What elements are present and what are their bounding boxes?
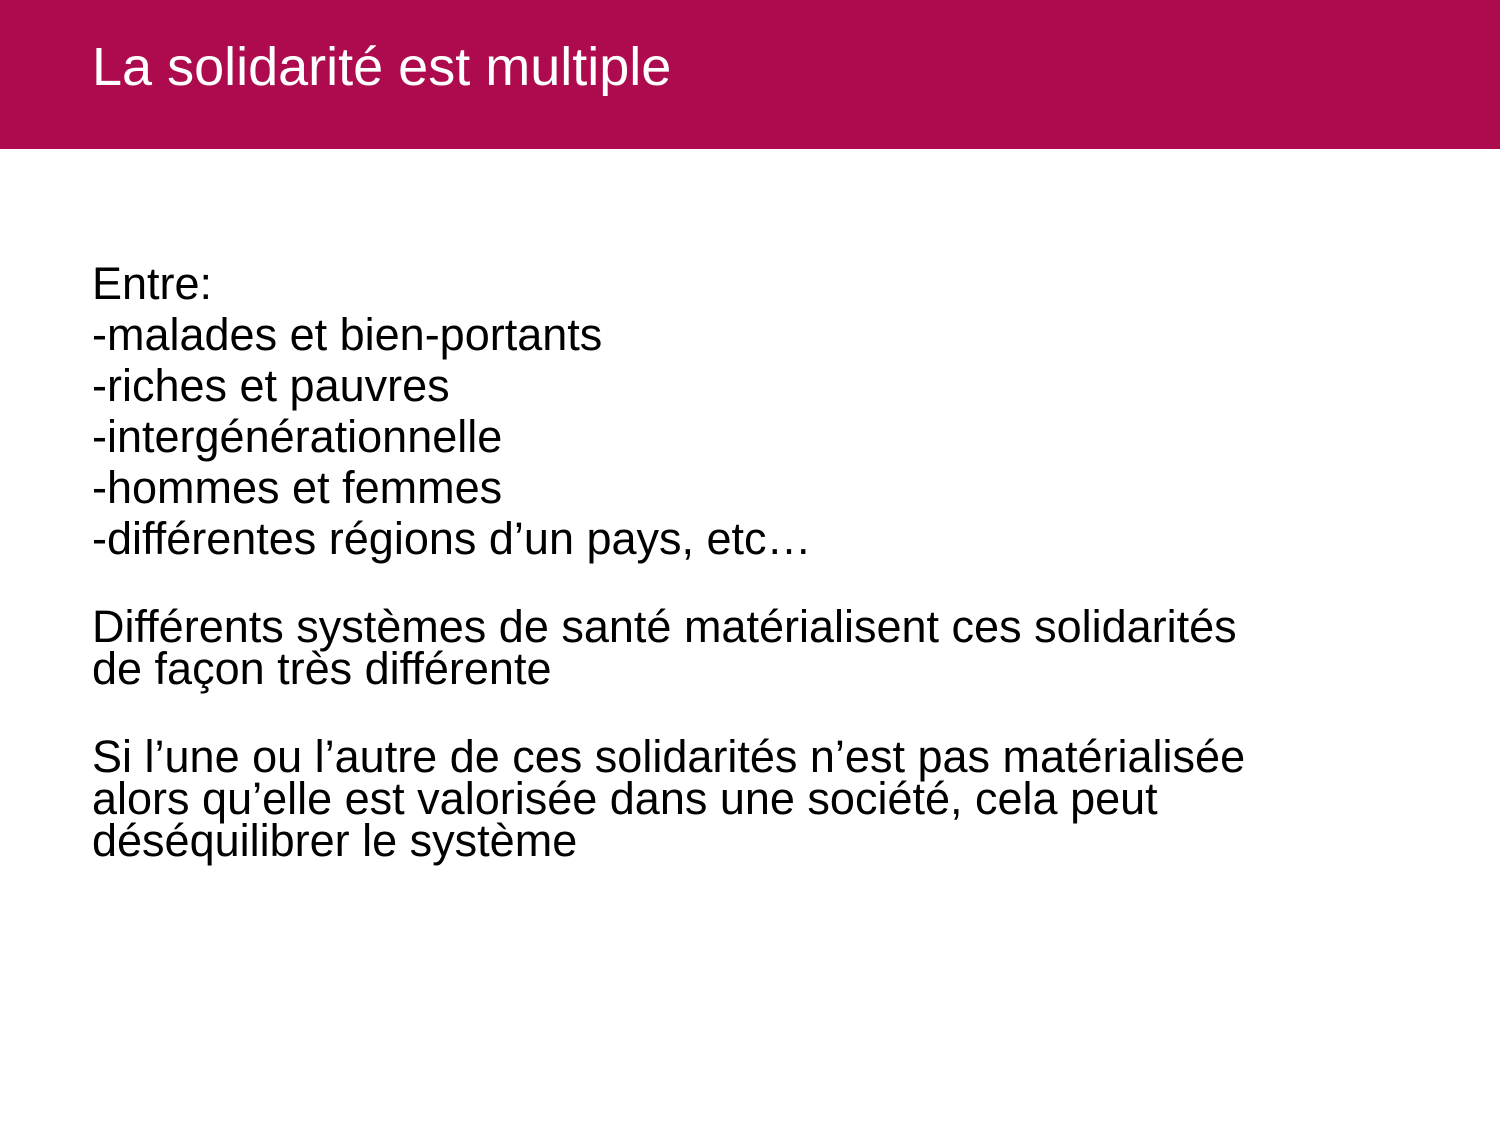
paragraph-desequilibre: Si l’une ou l’autre de ces solidarités n… <box>92 736 1412 862</box>
intro-lead-line: Entre: <box>92 258 1412 309</box>
paragraph-line: Si l’une ou l’autre de ces solidarités n… <box>92 736 1412 778</box>
list-item: -riches et pauvres <box>92 360 1412 411</box>
list-item: -intergénérationnelle <box>92 411 1412 462</box>
paragraph-systemes-sante: Différents systèmes de santé matérialise… <box>92 606 1412 690</box>
page-title: La solidarité est multiple <box>92 36 1432 100</box>
slide-body: Entre: -malades et bien-portants -riches… <box>92 258 1412 862</box>
list-item: -hommes et femmes <box>92 462 1412 513</box>
block-spacer <box>92 564 1412 606</box>
paragraph-line: Différents systèmes de santé matérialise… <box>92 606 1412 648</box>
paragraph-line: de façon très différente <box>92 648 1412 690</box>
presentation-slide: La solidarité est multiple Entre: -malad… <box>0 0 1500 1125</box>
list-item: -malades et bien-portants <box>92 309 1412 360</box>
paragraph-line: déséquilibrer le système <box>92 820 1412 862</box>
intro-list-block: Entre: -malades et bien-portants -riches… <box>92 258 1412 564</box>
paragraph-line: alors qu’elle est valorisée dans une soc… <box>92 778 1412 820</box>
block-spacer <box>92 690 1412 736</box>
list-item: -différentes régions d’un pays, etc… <box>92 513 1412 564</box>
